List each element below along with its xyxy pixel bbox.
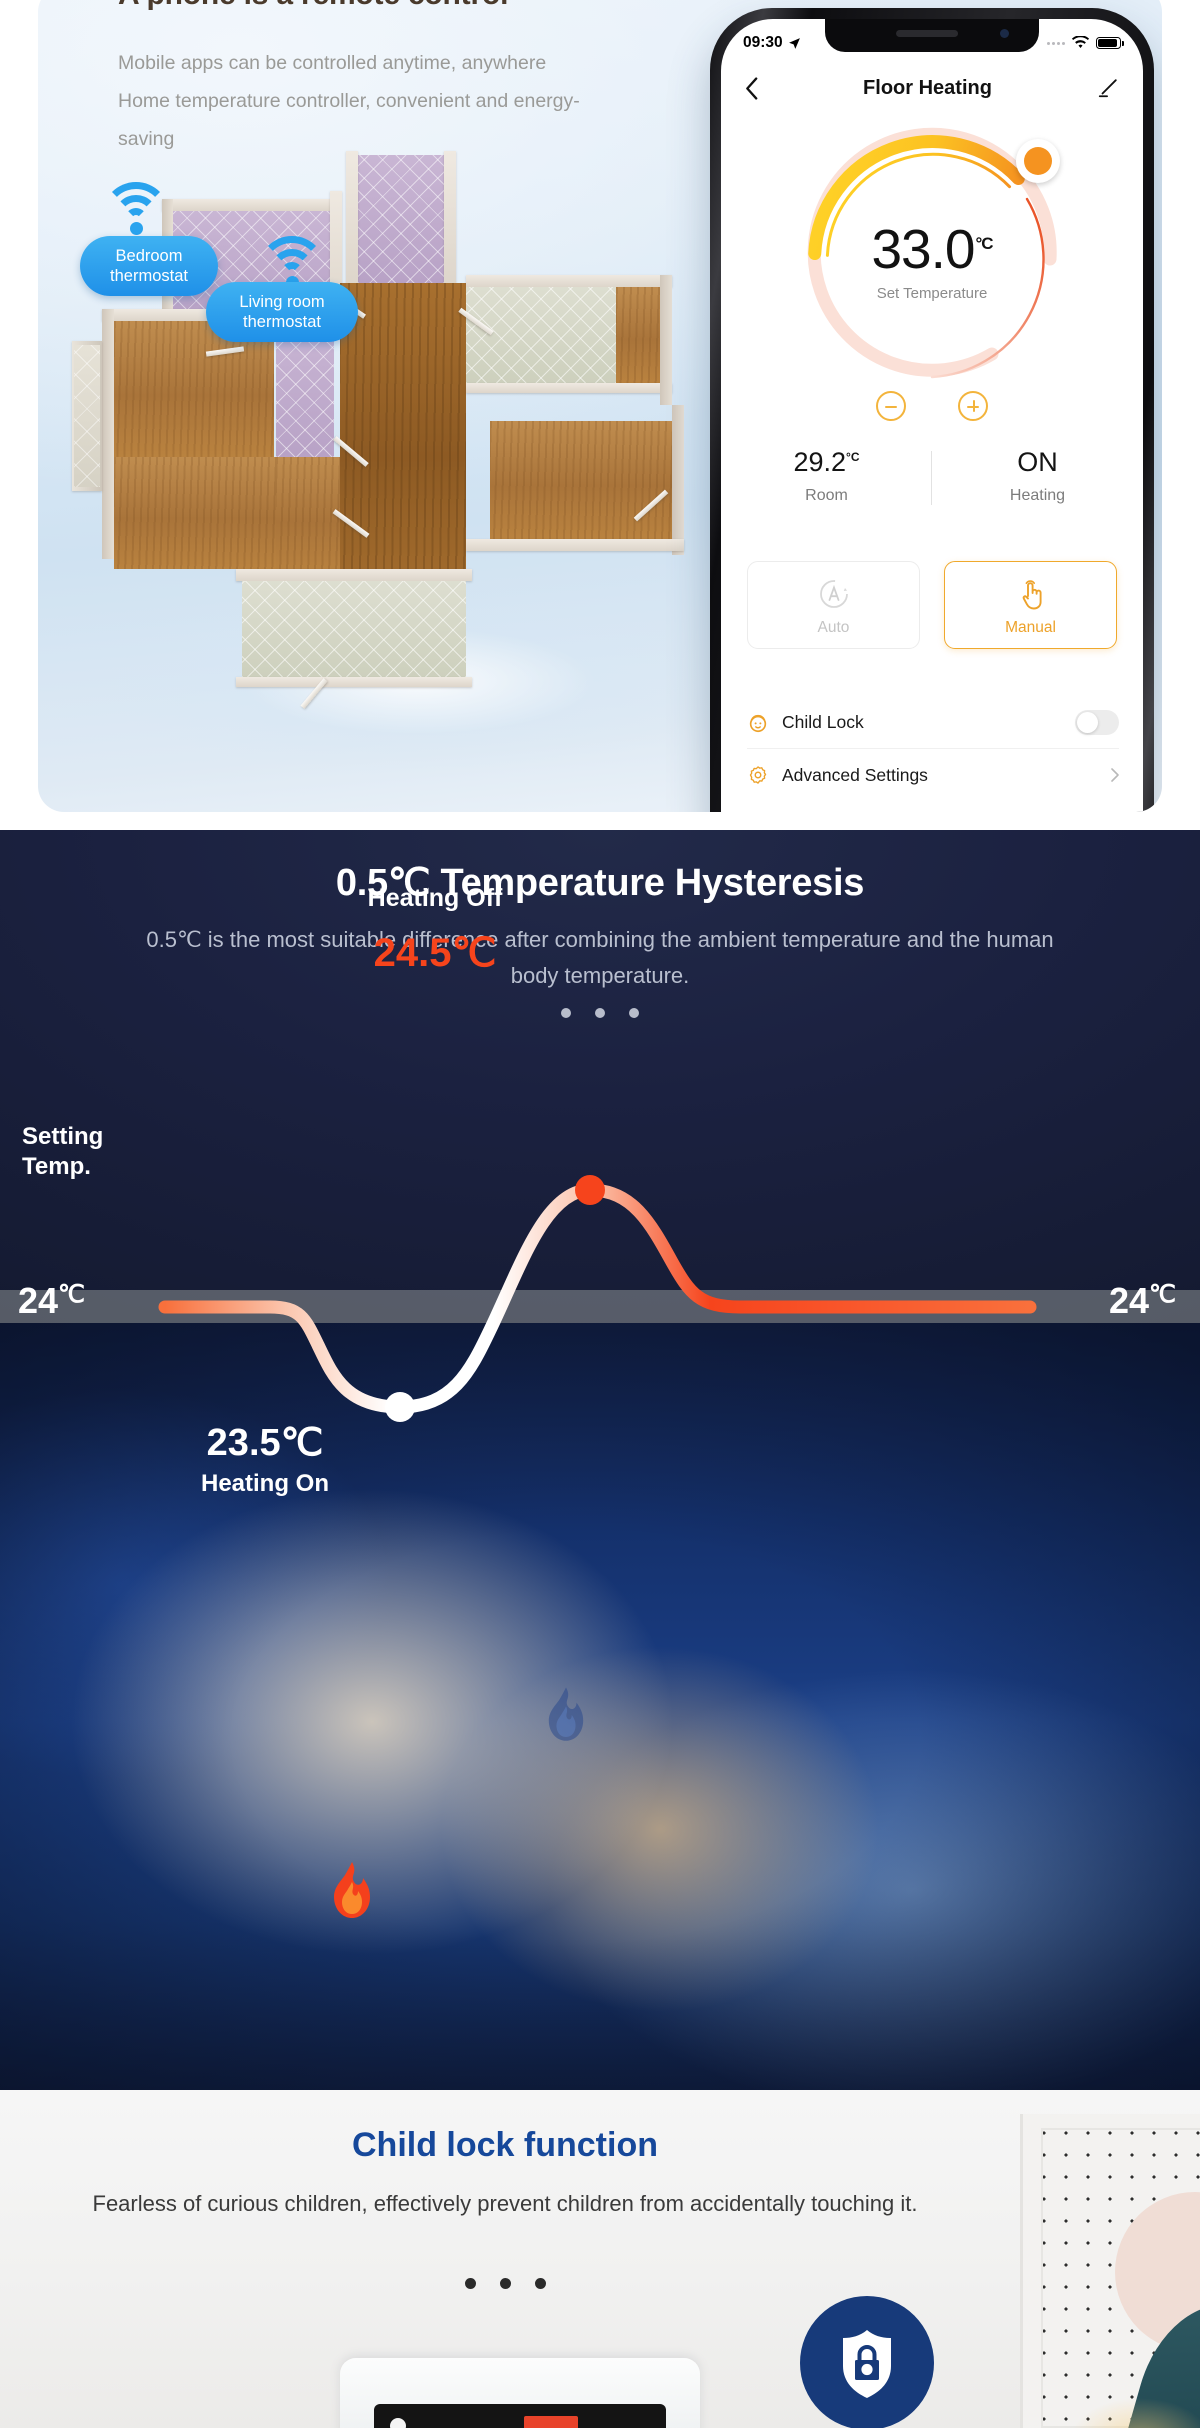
room-label: Room — [721, 487, 932, 505]
advanced-settings-label: Advanced Settings — [782, 765, 1098, 786]
mode-manual-button[interactable]: Manual — [944, 561, 1117, 649]
phone-mockup: 09:30 — [710, 8, 1154, 812]
status-time: 09:30 — [743, 34, 783, 52]
right-setpoint-label: 24℃ — [1109, 1280, 1176, 1322]
heating-on-label: Heating On — [0, 1470, 865, 1498]
increase-temperature-button[interactable] — [958, 391, 988, 421]
thermostat-device — [340, 2358, 700, 2428]
status-bar: 09:30 — [721, 19, 1143, 59]
heating-off-label: Heating Off — [0, 884, 1035, 913]
child-lock-toggle[interactable] — [1075, 710, 1119, 735]
shield-lock-badge — [800, 2296, 934, 2428]
product-detail-page: A phone is a remote control Mobile apps … — [0, 0, 1200, 2428]
wifi-icon-bedroom — [100, 182, 172, 234]
dial-value-number: 33.0 — [871, 218, 974, 280]
lcd-red-segment — [524, 2416, 578, 2428]
dial-value: 33.0°C — [798, 217, 1066, 281]
mode-auto-button[interactable]: Auto — [747, 561, 920, 649]
wifi-icon — [1071, 36, 1090, 50]
dial-knob[interactable] — [1016, 139, 1060, 183]
child-lock-dots — [0, 2278, 1010, 2289]
remote-control-section: A phone is a remote control Mobile apps … — [0, 0, 1200, 830]
row-child-lock[interactable]: Child Lock — [747, 697, 1119, 749]
remote-section-subtitle: Mobile apps can be controlled anytime, a… — [118, 44, 588, 158]
left-setpoint-label: 24℃ — [18, 1280, 85, 1322]
remote-section-title: A phone is a remote control — [118, 0, 738, 12]
flame-icon-heating-off — [545, 1685, 587, 1745]
room-value: 29.2°C — [721, 447, 932, 478]
hysteresis-section: 0.5℃ Temperature Hysteresis 0.5℃ is the … — [0, 830, 1200, 2090]
dial-value-unit: °C — [975, 234, 992, 253]
chevron-right-icon — [1111, 768, 1119, 782]
chevron-left-icon[interactable] — [745, 77, 758, 100]
row-advanced-settings[interactable]: Advanced Settings — [747, 749, 1119, 801]
location-arrow-icon — [788, 37, 801, 50]
stat-heating: ON Heating — [932, 447, 1143, 505]
heating-on-point — [385, 1392, 415, 1422]
shield-lock-icon — [828, 2324, 906, 2402]
phone-screen: 09:30 — [721, 19, 1143, 812]
tag-living-line1: Living room — [239, 293, 324, 311]
heating-off-point — [575, 1175, 605, 1205]
temperature-stepper — [876, 391, 988, 421]
remote-control-card: A phone is a remote control Mobile apps … — [38, 0, 1162, 812]
gear-icon — [747, 764, 769, 786]
heating-label: Heating — [932, 487, 1143, 505]
thermostat-lcd — [374, 2404, 666, 2428]
battery-icon — [1096, 37, 1121, 49]
flame-icon-heating-on — [330, 1860, 374, 1922]
tag-bedroom-line2: thermostat — [110, 267, 188, 285]
temperature-dial[interactable]: 33.0°C Set Temperature — [798, 125, 1066, 393]
dial-caption: Set Temperature — [798, 285, 1066, 302]
decrease-temperature-button[interactable] — [876, 391, 906, 421]
status-stats: 29.2°C Room ON Heating — [721, 447, 1143, 505]
setting-temp-line2: Temp. — [22, 1153, 91, 1180]
baby-face-icon — [747, 712, 769, 734]
app-navbar: Floor Heating — [721, 63, 1143, 113]
setting-temp-line1: Setting — [22, 1123, 103, 1150]
mode-manual-label: Manual — [1005, 619, 1056, 637]
mode-auto-label: Auto — [818, 619, 850, 637]
child-lock-description: Fearless of curious children, effectivel… — [80, 2184, 930, 2224]
tag-bedroom-line1: Bedroom — [116, 247, 183, 265]
stat-room: 29.2°C Room — [721, 447, 932, 505]
lcd-indicator — [390, 2418, 406, 2428]
signal-dots-icon — [1047, 42, 1065, 45]
pencil-icon[interactable] — [1097, 77, 1119, 99]
wifi-icon-living-room — [256, 236, 328, 288]
tag-bedroom-thermostat[interactable]: Bedroom thermostat — [80, 236, 218, 296]
tag-living-line2: thermostat — [243, 313, 321, 331]
app-title: Floor Heating — [863, 77, 992, 100]
warm-glow — [1040, 2380, 1200, 2428]
child-lock-title: Child lock function — [0, 2126, 1010, 2165]
hand-tap-icon — [1011, 574, 1051, 614]
child-lock-label: Child Lock — [782, 712, 1062, 733]
heating-value: ON — [932, 447, 1143, 478]
setting-temp-label: Setting Temp. — [22, 1122, 103, 1182]
tag-living-room-thermostat[interactable]: Living room thermostat — [206, 282, 358, 342]
auto-circle-icon — [814, 574, 854, 614]
trough-temperature-label: 23.5℃ — [0, 1420, 865, 1465]
mode-selector: Auto Manual — [747, 561, 1117, 649]
peak-temperature-label: 24.5℃ — [0, 930, 1035, 976]
